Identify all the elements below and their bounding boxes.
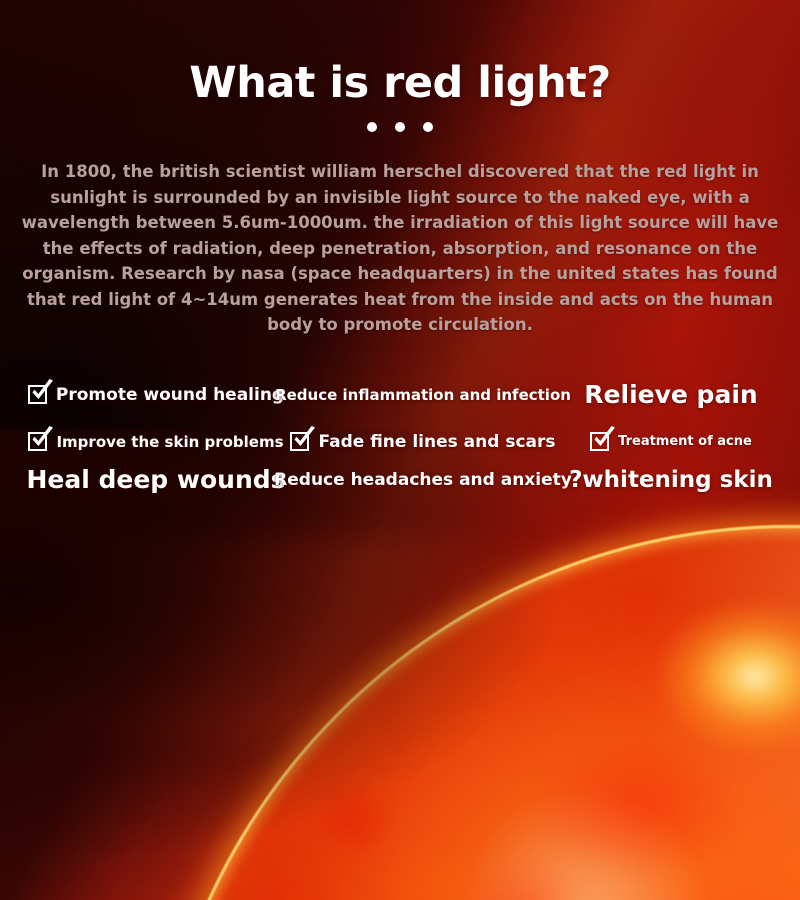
benefit-item: Fade fine lines and scars xyxy=(282,432,564,452)
benefit-label: Heal deep wounds xyxy=(26,465,285,494)
checkmark-icon xyxy=(590,432,609,451)
page-title: What is red light? xyxy=(0,58,800,108)
benefit-label: Promote wound healing xyxy=(56,385,284,405)
benefit-item: Improve the skin problems xyxy=(30,432,282,451)
separator-dot xyxy=(423,122,433,132)
benefit-item: Treatment of acne xyxy=(564,432,778,451)
dot-separator xyxy=(0,122,800,132)
benefit-item: ?whitening skin xyxy=(564,467,778,493)
benefit-item: Promote wound healing xyxy=(30,385,282,405)
benefit-label: ?whitening skin xyxy=(569,467,773,493)
poster-content: What is red light? In 1800, the british … xyxy=(0,0,800,900)
benefit-label: Reduce headaches and anxiety xyxy=(274,470,572,490)
benefits-grid: Promote wound healing Reduce inflammatio… xyxy=(30,371,778,494)
red-light-info-poster: What is red light? In 1800, the british … xyxy=(0,0,800,900)
benefit-item: Reduce headaches and anxiety xyxy=(282,470,564,490)
benefit-item: Relieve pain xyxy=(564,380,778,409)
separator-dot xyxy=(395,122,405,132)
benefit-label: Fade fine lines and scars xyxy=(318,432,555,452)
benefit-label: Treatment of acne xyxy=(618,434,752,449)
benefit-label: Reduce inflammation and infection xyxy=(275,386,571,404)
benefit-label: Relieve pain xyxy=(584,380,757,409)
description-paragraph: In 1800, the british scientist william h… xyxy=(14,159,786,338)
benefit-label: Improve the skin problems xyxy=(56,433,283,451)
separator-dot xyxy=(367,122,377,132)
checkmark-icon xyxy=(28,432,47,451)
benefit-item: Heal deep wounds xyxy=(30,465,282,494)
benefit-item: Reduce inflammation and infection xyxy=(282,386,564,404)
checkmark-icon xyxy=(290,432,309,451)
checkmark-icon xyxy=(28,385,47,404)
